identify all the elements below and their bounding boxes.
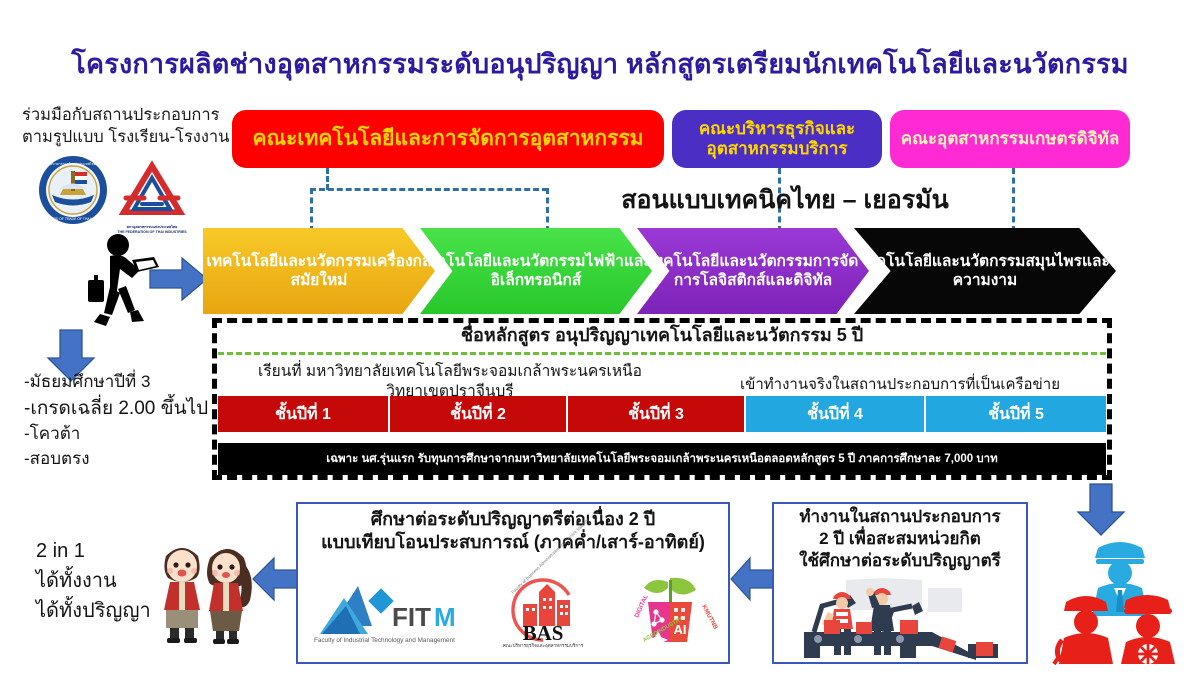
work-experience-line-2: 2 ปี เพื่อสะสมหน่วยกิต — [776, 528, 1024, 550]
arrow-down-blue-icon-2 — [1076, 484, 1126, 536]
svg-text:M: M — [434, 602, 456, 632]
connector-faculty3-vertical — [1012, 168, 1015, 232]
work-experience-line-1: ทำงานในสถานประกอบการ — [776, 506, 1024, 528]
connector-faculty1-vertical — [326, 168, 329, 190]
digital-agroindustry-logo: AI DIGITAL KMUTNB AGROINDUSTRY — [624, 572, 716, 652]
teaching-mode-label: สอนแบบเทคนิคไทย – เยอรมัน — [570, 180, 1000, 220]
svg-text:BOARD OF TRADE OF THAILAND: BOARD OF TRADE OF THAILAND — [46, 217, 100, 221]
admission-requirements-list: -มัธยมศึกษาปีที่ 3 -เกรดเฉลี่ย 2.00 ขึ้น… — [24, 370, 224, 471]
connector-faculty1-horizontal — [310, 188, 548, 191]
arrow-right-blue-icon — [150, 256, 208, 302]
federation-of-thai-industries-logo: สภาอุตสาหกรรมแห่งประเทศไทย THE FEDERATIO… — [112, 160, 192, 232]
cooperation-line-2: ตามรูปแบบ โรงเรียน-โรงงาน — [22, 126, 237, 148]
worker-professionals-icon — [1052, 540, 1186, 666]
course-name-label: ชื่อหลักสูตร อนุปริญญาเทคโนโลยีและนวัตกร… — [212, 320, 1112, 349]
year-bar-1[interactable]: ชั้นปีที่ 1 — [218, 396, 390, 432]
svg-text:FIT: FIT — [392, 602, 431, 632]
year-bar-4[interactable]: ชั้นปีที่ 4 — [746, 396, 926, 432]
work-experience-text: ทำงานในสถานประกอบการ 2 ปี เพื่อสะสมหน่วย… — [776, 506, 1024, 572]
further-degree-line-2: แบบเทียบโอนประสบการณ์ (ภาคค่ำ/เสาร์-อาทิ… — [300, 531, 726, 554]
green-dashed-separator — [218, 352, 1106, 355]
page-title: โครงการผลิตช่างอุตสาหกรรมระดับอนุปริญญา … — [0, 42, 1200, 85]
connector-faculty1-right-drop — [546, 188, 549, 232]
white-dashed-separator — [218, 437, 1106, 441]
svg-text:KMUTNB: KMUTNB — [700, 604, 719, 631]
svg-text:ธนาคารการค้าแห่งประเทศไทย: ธนาคารการค้าแห่งประเทศไทย — [50, 162, 96, 166]
cooperation-line-1: ร่วมมือกับสถานประกอบการ — [22, 104, 237, 126]
board-of-trade-of-thailand-logo: ธนาคารการค้าแห่งประเทศไทย BOARD OF TRADE… — [38, 155, 108, 225]
track-chevron-mechanical[interactable]: เทคโนโลยีและนวัตกรรมเครื่องกลสมัยใหม่ — [203, 228, 435, 314]
requirement-item-3: -โควต้า — [24, 422, 224, 447]
work-experience-line-3: ใช้ศึกษาต่อระดับปริญญาตรี — [776, 550, 1024, 572]
faculty-box-industrial-technology[interactable]: คณะเทคโนโลยีและการจัดการอุตสาหกรรม — [232, 110, 664, 168]
fitm-caption: Faculty of Industrial Technology and Man… — [314, 637, 455, 644]
arrow-left-blue-icon-2 — [730, 556, 778, 602]
track-chevron-electrical[interactable]: เทคโนโลยีและนวัตกรรมไฟฟ้าและอิเล็กทรอนิก… — [420, 228, 652, 314]
track-chevron-logistics-digital[interactable]: เทคโนโลยีและนวัตกรรมการจัดการโลจิสติกส์แ… — [637, 228, 869, 314]
svg-text:DIGITAL: DIGITAL — [633, 594, 649, 619]
factory-conveyor-workers-illustration — [788, 578, 1014, 660]
further-degree-line-1: ศึกษาต่อระดับปริญญาตรีต่อเนื่อง 2 ปี — [300, 508, 726, 531]
fitm-logo: FIT M Faculty of Industrial Technology a… — [310, 576, 462, 648]
faculty-box-digital-agro-industry[interactable]: คณะอุตสาหกรรมเกษตรดิจิทัล — [890, 110, 1130, 168]
year-bar-3[interactable]: ชั้นปีที่ 3 — [568, 396, 746, 432]
cooperation-text: ร่วมมือกับสถานประกอบการ ตามรูปแบบ โรงเรี… — [22, 104, 237, 149]
connector-faculty1-left-drop — [310, 188, 313, 232]
svg-text:BAS: BAS — [523, 621, 564, 645]
faculty-logo-row: FIT M Faculty of Industrial Technology a… — [300, 562, 726, 662]
requirement-item-2: -เกรดเฉลี่ย 2.00 ขึ้นไป — [24, 395, 224, 423]
requirement-item-4: -สอบตรง — [24, 447, 224, 472]
scholarship-note-band: เฉพาะ นศ.รุ่นแรก รับทุนการศึกษาจากมหาวิท… — [218, 443, 1106, 475]
bas-caption-th: คณะบริหารธุรกิจและอุตสาหกรรมบริการ — [503, 643, 584, 649]
requirement-item-1: -มัธยมศึกษาปีที่ 3 — [24, 370, 224, 395]
further-degree-text: ศึกษาต่อระดับปริญญาตรีต่อเนื่อง 2 ปี แบบ… — [300, 508, 726, 555]
track-chevron-herbal-beauty[interactable]: เทคโนโลยีและนวัตกรรมสมุนไพรและความงาม — [854, 228, 1116, 314]
bas-logo: BAS คณะบริหารธุรกิจและอุตสาหกรรมบริการ F… — [483, 574, 603, 650]
work-network-label: เข้าทำงานจริงในสถานประกอบการที่เป็นเครือ… — [700, 372, 1100, 396]
faculty-box-business-administration[interactable]: คณะบริหารธุรกิจและอุตสาหกรรมบริการ — [672, 110, 882, 168]
thai-graduate-couple-icon — [148, 530, 266, 648]
year-bar-2[interactable]: ชั้นปีที่ 2 — [390, 396, 568, 432]
year-bar-5[interactable]: ชั้นปีที่ 5 — [926, 396, 1106, 432]
